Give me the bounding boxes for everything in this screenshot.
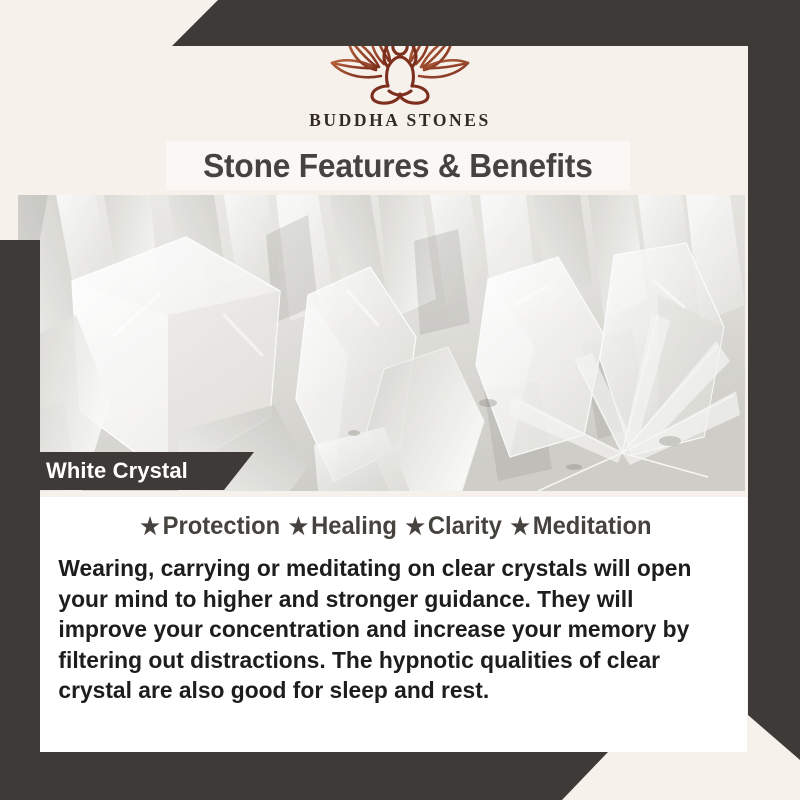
benefit-label: Meditation (533, 512, 654, 540)
frame-right-strip (748, 0, 800, 760)
star-icon: ★ (504, 513, 533, 539)
brand-name: BUDDHA STONES (0, 112, 800, 130)
white-crystal-photo (18, 195, 745, 491)
benefit-label: Healing (311, 512, 399, 540)
page-title: Stone Features & Benefits (203, 147, 593, 185)
benefit-item: ★Protection (134, 512, 282, 540)
photo-label-text: White Crystal (18, 458, 188, 484)
benefit-label: Clarity (428, 512, 504, 540)
frame-bottom-left-bar (0, 752, 800, 800)
frame-left-strip (0, 240, 40, 800)
benefit-item: ★Healing (282, 512, 399, 540)
benefit-item: ★Meditation (504, 512, 654, 540)
content-panel: ★Protection★Healing★Clarity★Meditation W… (40, 497, 747, 752)
benefit-label: Protection (163, 512, 282, 540)
title-band: Stone Features & Benefits (166, 141, 630, 190)
description-text: Wearing, carrying or meditating on clear… (40, 541, 726, 706)
star-icon: ★ (399, 513, 428, 539)
benefit-item: ★Clarity (399, 512, 504, 540)
star-icon: ★ (282, 513, 311, 539)
photo-label-banner: White Crystal (18, 452, 254, 490)
infographic-card: BUDDHA STONES Stone Features & Benefits (0, 0, 800, 800)
star-icon: ★ (134, 513, 163, 539)
benefits-row: ★Protection★Healing★Clarity★Meditation (58, 497, 730, 541)
